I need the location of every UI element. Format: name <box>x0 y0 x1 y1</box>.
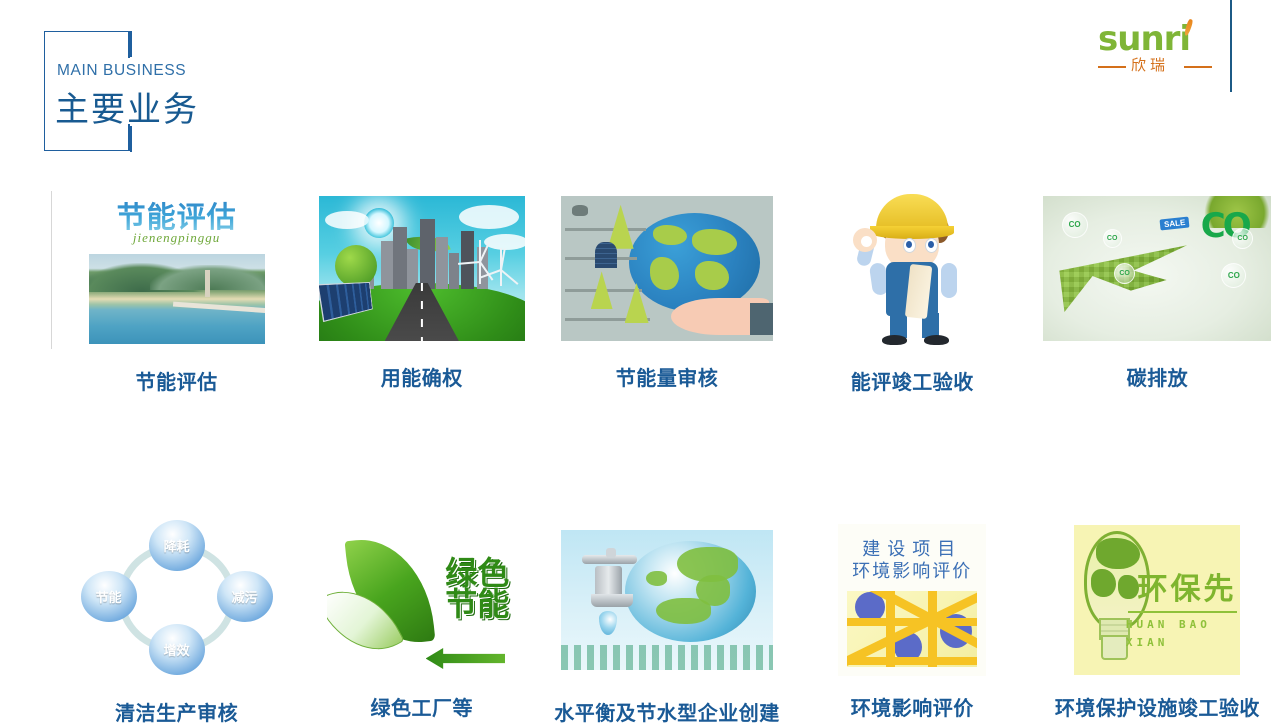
eco-poster-text: 环保先 <box>1137 564 1236 608</box>
page-title: 主要业务 <box>55 82 199 131</box>
business-card-6-image: 降耗 减污 增效 节能 <box>77 520 277 675</box>
co2-bubble-icon: CO <box>1232 228 1253 249</box>
business-card-5[interactable]: CO SALE CO CO CO CO CO 碳排放 <box>1035 180 1280 391</box>
business-card-3[interactable]: 节能量审核 <box>544 180 789 391</box>
business-card-3-caption: 节能量审核 <box>544 362 789 391</box>
co2-bubble-icon: CO <box>1114 263 1135 284</box>
logo-wordmark: sunri <box>1098 22 1190 56</box>
company-logo: sunri 欣瑞 <box>1098 22 1213 80</box>
sphere-label: 减污 <box>217 571 273 622</box>
poster-pinyin-text: jienengpinggu <box>133 230 220 246</box>
logo-rule-right <box>1184 66 1212 68</box>
business-card-8-caption: 水平衡及节水型企业创建 <box>544 697 789 726</box>
sphere-label: 降耗 <box>149 520 205 571</box>
business-card-9-image: 建设项目 环境影响评价 <box>838 524 986 676</box>
business-card-4-caption: 能评竣工验收 <box>790 366 1035 395</box>
earth-globe-icon <box>625 541 756 642</box>
business-grid-row-2: 降耗 减污 增效 节能 清洁生产审核 绿色 节能 <box>0 520 1280 726</box>
business-card-1-caption: 节能评估 <box>54 366 299 395</box>
business-card-2-image <box>319 196 525 341</box>
header-frame-right-top-segment <box>128 31 130 58</box>
business-card-8-image <box>561 530 773 670</box>
business-card-6-caption: 清洁生产审核 <box>54 697 299 726</box>
business-card-1[interactable]: 节能评估 jienengpinggu 节能评估 <box>54 180 299 395</box>
business-card-10-caption: 环境保护设施竣工验收 <box>1035 692 1280 721</box>
business-card-5-caption: 碳排放 <box>1035 362 1280 391</box>
business-grid: 节能评估 jienengpinggu 节能评估 <box>0 180 1280 726</box>
leaf-poster-line1: 绿色 <box>445 558 509 589</box>
water-drop-icon <box>599 611 617 635</box>
leaf-poster-text: 绿色 节能 <box>445 558 509 620</box>
page-subtitle-english: MAIN BUSINESS <box>57 62 186 80</box>
business-card-7-caption: 绿色工厂等 <box>299 692 544 721</box>
sale-badge: SALE <box>1159 216 1189 230</box>
co2-bubble-icon: CO <box>1062 212 1088 238</box>
business-grid-row-1: 节能评估 jienengpinggu 节能评估 <box>0 180 1280 395</box>
leaf-poster-line2: 节能 <box>445 589 509 620</box>
sun-icon <box>364 208 394 238</box>
header-vertical-divider <box>1230 0 1232 92</box>
business-card-9[interactable]: 建设项目 环境影响评价 环境影响评价 <box>790 520 1035 721</box>
business-card-10[interactable]: 环保先 HUAN BAO XIAN 环境保护设施竣工验收 <box>1035 520 1280 721</box>
co2-bubble-icon: CO <box>1221 263 1246 288</box>
sphere-label: 节能 <box>81 571 137 622</box>
business-card-9-caption: 环境影响评价 <box>790 692 1035 721</box>
business-card-3-image <box>561 196 773 341</box>
eco-poster-pinyin-line2: XIAN <box>1126 636 1169 649</box>
business-card-6[interactable]: 降耗 减污 增效 节能 清洁生产审核 <box>54 520 299 726</box>
business-card-1-image: 节能评估 jienengpinggu <box>82 188 272 348</box>
business-card-7[interactable]: 绿色 节能 绿色工厂等 <box>299 520 544 721</box>
solar-panel-icon <box>595 242 617 268</box>
business-card-4[interactable]: 能评竣工验收 <box>790 180 1035 395</box>
poster-landscape-photo <box>89 254 265 344</box>
business-card-4-image <box>832 188 992 348</box>
eco-poster-pinyin-line1: HUAN BAO <box>1126 618 1211 631</box>
sphere-label: 增效 <box>149 624 205 675</box>
business-card-7-image: 绿色 节能 <box>327 525 517 675</box>
co2-bubble-icon: CO <box>1103 229 1122 248</box>
business-card-8[interactable]: 水平衡及节水型企业创建 <box>544 520 789 726</box>
business-card-2-caption: 用能确权 <box>299 362 544 391</box>
business-card-5-image: CO SALE CO CO CO CO CO <box>1043 196 1271 341</box>
book-cover-artwork <box>847 591 977 667</box>
business-card-2[interactable]: 用能确权 <box>299 180 544 391</box>
logo-chinese-name: 欣瑞 <box>1131 58 1169 74</box>
logo-rule-left <box>1098 66 1126 68</box>
business-card-10-image: 环保先 HUAN BAO XIAN <box>1074 525 1240 675</box>
city-skyline <box>561 645 773 670</box>
arrow-icon <box>426 648 506 669</box>
book-title-line2: 环境影响评价 <box>852 557 972 583</box>
